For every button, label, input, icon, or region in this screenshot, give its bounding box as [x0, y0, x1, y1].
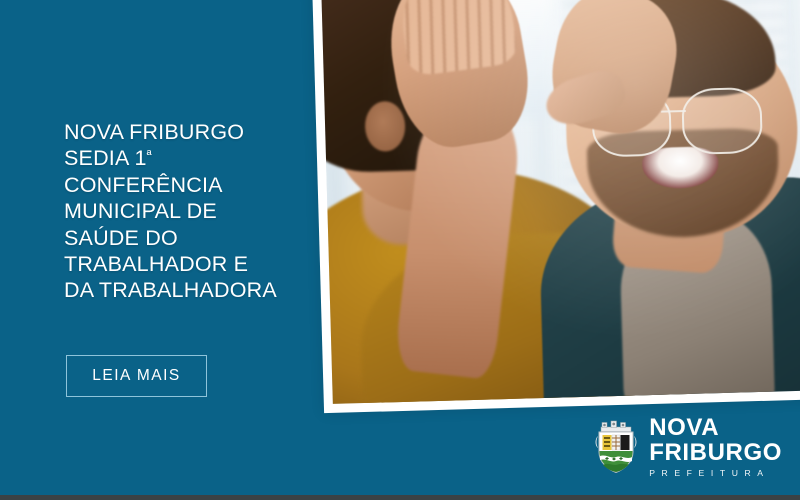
prefeitura-logo[interactable]: NOVA FRIBURGO PREFEITURA: [593, 416, 782, 478]
headline-ordinal-indicator: ª: [147, 148, 152, 163]
read-more-label: LEIA MAIS: [92, 367, 180, 385]
bottom-strip: [0, 495, 800, 500]
headline-line-7: DA TRABALHADORA: [64, 278, 277, 302]
logo-line-friburgo: FRIBURGO: [649, 441, 782, 465]
headline-line-2: SEDIA 1: [64, 146, 147, 170]
nova-friburgo-coat-of-arms-icon: [593, 419, 639, 475]
banner-content: NOVA FRIBURGO SEDIA 1ª CONFERÊNCIA MUNIC…: [0, 0, 330, 500]
headline-line-5: SAÚDE DO: [64, 226, 178, 250]
page-title: NOVA FRIBURGO SEDIA 1ª CONFERÊNCIA MUNIC…: [64, 119, 314, 304]
logo-line-nova: NOVA: [649, 416, 782, 440]
headline-line-6: TRABALHADOR E: [64, 252, 248, 276]
promo-banner: NOVA FRIBURGO SEDIA 1ª CONFERÊNCIA MUNIC…: [0, 0, 800, 500]
headline-line-1: NOVA FRIBURGO: [64, 120, 244, 144]
hero-photo: [321, 0, 800, 404]
read-more-button[interactable]: LEIA MAIS: [66, 355, 207, 397]
hero-photo-card: [312, 0, 800, 413]
headline-line-3: CONFERÊNCIA: [64, 173, 223, 197]
headline-line-4: MUNICIPAL DE: [64, 199, 217, 223]
logo-wordmark: NOVA FRIBURGO PREFEITURA: [649, 416, 782, 478]
photo-man-glasses-right-lens: [682, 87, 763, 155]
logo-line-prefeitura: PREFEITURA: [649, 469, 782, 478]
